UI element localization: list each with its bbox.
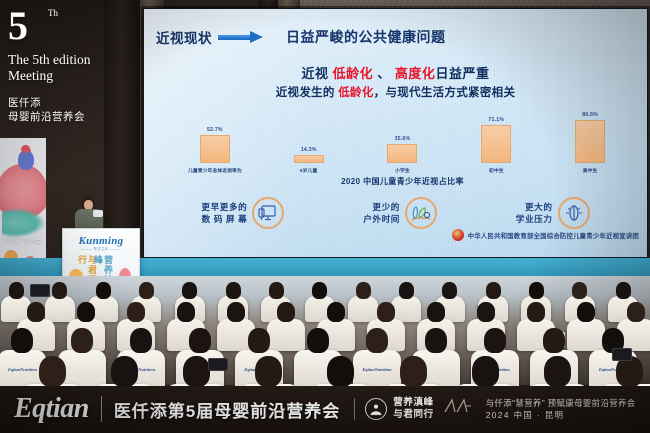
slide-title-row: 近视现状 日益严峻的公共健康问题 — [156, 25, 637, 49]
audience-head — [544, 356, 571, 386]
audience-member — [528, 356, 588, 386]
poster-mascot-icon — [18, 150, 34, 170]
chart-bar — [575, 120, 605, 163]
audience-head — [377, 302, 395, 322]
microphone-icon — [93, 210, 103, 217]
audience-head — [130, 328, 152, 353]
banner-right-line1: 与仟添"慧营养" 预赋康母婴前沿营养会 — [486, 397, 636, 409]
audience-head — [356, 282, 371, 299]
chart-bar-group: 52.7%儿童青少年总体近视率为 — [168, 105, 262, 163]
chart-bar — [481, 125, 511, 163]
audience-head — [27, 302, 45, 322]
audience-head — [327, 356, 354, 386]
factor-1-line1: 更早更多的 — [201, 201, 247, 213]
brand-logo-number: 5 — [8, 3, 28, 48]
audience-head — [484, 328, 506, 353]
audience-head — [477, 302, 495, 322]
podium-city-label: Kunming — [63, 235, 139, 247]
banner-slogan-line1: 营养滇峰 — [393, 397, 433, 409]
chart-bar-group: 14.3%6岁儿童 — [262, 105, 356, 163]
sub2-text-b: ，与现代生活方式紧密相关 — [374, 87, 516, 99]
audience-member: EqtianNutrition — [22, 356, 82, 386]
chart-bar-category: 高中生 — [545, 167, 635, 174]
brand-logo-mark: 5 Th — [8, 6, 138, 48]
brand-logo-superscript: Th — [48, 8, 58, 18]
audience-member — [239, 356, 299, 386]
right-arrow-icon — [218, 32, 264, 42]
sub1-text-mid: 、 — [373, 66, 395, 81]
brand-english-line1: The 5th edition — [8, 52, 138, 68]
myopia-bar-chart: 52.7%儿童青少年总体近视率为14.3%6岁儿童35.6%小学生71.1%初中… — [168, 105, 637, 177]
chart-bar-group: 80.5%高中生 — [543, 105, 637, 163]
banner-slogan: 营养滇峰 与君同行 — [393, 397, 433, 421]
podium-city-sub: ——— 东方之约 ——— — [63, 247, 139, 252]
banner-right-line2: 2024 中国 · 昆明 — [486, 409, 636, 421]
sub2-text-a: 近视发生的 — [276, 87, 339, 99]
audience-head — [627, 302, 645, 322]
chart-bar-value: 71.1% — [466, 117, 526, 123]
sub1-highlight-b: 高度化 — [395, 66, 436, 81]
audience-head — [189, 328, 211, 353]
audience-head — [312, 282, 327, 299]
audience-head — [182, 282, 197, 299]
audience-head — [111, 356, 138, 386]
sub1-text-b: 日益严重 — [435, 66, 489, 81]
audience-head — [52, 282, 67, 299]
audience-head — [227, 302, 245, 322]
factor-2-line2: 户外时间 — [363, 213, 400, 225]
chart-bar — [200, 135, 230, 163]
audience-member: EqtianNutrition — [311, 356, 371, 386]
audience-head — [139, 282, 154, 299]
academic-pressure-icon — [558, 197, 590, 229]
audience-head — [307, 328, 329, 353]
audience-member: EqtianNutrition — [455, 356, 515, 386]
banner-event-title: 医仟添第5届母婴前沿营养会 — [114, 397, 340, 422]
slide-subtitle-2: 近视发生的 低龄化，与现代生活方式紧密相关 — [144, 84, 647, 100]
banner-divider-1 — [101, 396, 102, 422]
brand-english-line2: Meeting — [8, 68, 138, 84]
audience-head — [11, 328, 33, 353]
brand-chinese-line2: 母婴前沿营养会 — [8, 110, 138, 124]
chart-bar-value: 52.7% — [185, 127, 245, 133]
chart-bar-category: 小学生 — [357, 167, 447, 174]
presentation-screen: 近视现状 日益严峻的公共健康问题 近视 低龄化 、 高度化日益严重 近视发生的 … — [143, 8, 648, 258]
slide-tag-label: 近视现状 — [156, 27, 212, 47]
factor-2-line1: 更少的 — [363, 201, 400, 213]
chart-bar-value: 35.6% — [372, 136, 432, 142]
banner-slogan-line2: 与君同行 — [393, 409, 433, 421]
poster-leaf-graphic — [2, 208, 46, 238]
audience-head — [39, 356, 66, 386]
slide-subtitle-1: 近视 低龄化 、 高度化日益严重 — [144, 63, 647, 82]
sub2-highlight: 低龄化 — [338, 87, 373, 99]
factor-1-line2: 数 码 屏 幕 — [201, 213, 247, 225]
audience-head — [543, 328, 565, 353]
chart-bar — [294, 155, 324, 163]
audience-head — [486, 282, 501, 299]
outdoor-plant-icon — [405, 197, 437, 229]
factor-3-line1: 更大的 — [516, 201, 553, 213]
audience-head — [269, 282, 284, 299]
brand-chinese-text: 医仟添 母婴前沿营养会 — [8, 96, 138, 124]
audience-head — [77, 302, 95, 322]
chart-bar-value: 14.3% — [279, 147, 339, 153]
audience-head — [577, 302, 595, 322]
audience-head — [529, 282, 544, 299]
red-seal-icon — [452, 229, 464, 241]
chart-bar-value: 80.5% — [560, 112, 620, 118]
audience-head — [96, 282, 111, 299]
factor-outdoor-time: 更少的 户外时间 — [363, 197, 437, 229]
audience-member — [383, 356, 443, 386]
sub1-text-a: 近视 — [302, 66, 333, 81]
poster-text: 母婴营 前沿会 — [2, 238, 44, 246]
audience-head — [400, 356, 427, 386]
audience-head — [427, 302, 445, 322]
left-brand-overlay: 5 Th The 5th edition Meeting 医仟添 母婴前沿营养会 — [8, 6, 138, 124]
nutrition-seal-icon — [365, 398, 387, 420]
audience-head — [327, 302, 345, 322]
banner-brand-logo: Eqtian — [14, 393, 89, 425]
factor-2-label: 更少的 户外时间 — [363, 201, 400, 225]
factor-1-label: 更早更多的 数 码 屏 幕 — [201, 201, 247, 225]
audience-head — [226, 282, 241, 299]
audience-head — [183, 356, 210, 386]
audience-head — [127, 302, 145, 322]
factor-3-line2: 学业压力 — [516, 213, 553, 225]
audience-head — [442, 282, 457, 299]
audience-head — [472, 356, 499, 386]
audience-head — [277, 302, 295, 322]
chart-bar-category: 6岁儿童 — [264, 167, 354, 174]
audience-head — [399, 282, 414, 299]
audience-area: EqtianNutritionEqtianNutritionEqtianNutr… — [0, 276, 650, 386]
audience-head — [366, 328, 388, 353]
slide-attribution: 中华人民共和国教育部全国综合防控儿童青少年近视宣讲团 — [452, 229, 639, 241]
audience-head — [425, 328, 447, 353]
slide-headline: 日益严峻的公共健康问题 — [286, 27, 446, 47]
chart-bar-group: 35.6%小学生 — [356, 105, 450, 163]
digital-screen-icon — [252, 197, 284, 229]
chart-bar-group: 71.1%初中生 — [449, 105, 543, 163]
banner-right-text: 与仟添"慧营养" 预赋康母婴前沿营养会 2024 中国 · 昆明 — [486, 397, 636, 421]
audience-head — [71, 328, 93, 353]
chart-x-axis-title: 2020 中国儿童青少年近视占比率 — [168, 176, 637, 187]
audience-head — [248, 328, 270, 353]
smartphone-held — [612, 348, 632, 361]
banner-divider-2 — [354, 398, 355, 420]
chart-bar-category: 初中生 — [451, 167, 541, 174]
audience-head — [572, 282, 587, 299]
bottom-branding-banner: Eqtian 医仟添第5届母婴前沿营养会 营养滇峰 与君同行 与仟添"慧营养" … — [0, 385, 650, 433]
slide-attribution-text: 中华人民共和国教育部全国综合防控儿童青少年近视宣讲团 — [468, 231, 639, 240]
factor-3-label: 更大的 学业压力 — [516, 201, 553, 225]
chart-bars-container: 52.7%儿童青少年总体近视率为14.3%6岁儿童35.6%小学生71.1%初中… — [168, 105, 637, 163]
smartphone-held — [208, 358, 228, 371]
audience-member — [94, 356, 154, 386]
audience-head — [527, 302, 545, 322]
factor-digital-screen: 更早更多的 数 码 屏 幕 — [201, 197, 284, 229]
smartphone-held — [30, 284, 50, 297]
banner-decor-mark — [442, 396, 472, 423]
chart-bar-category: 儿童青少年总体近视率为 — [170, 167, 260, 174]
audience-head — [177, 302, 195, 322]
brand-chinese-line1: 医仟添 — [8, 96, 138, 110]
audience-head — [616, 282, 631, 299]
event-poster: 母婴营 前沿会 — [0, 138, 46, 278]
brand-english-text: The 5th edition Meeting — [8, 52, 138, 84]
screenshot-root: 母婴营 前沿会 近视现状 日益严峻的公共健康问题 近视 低龄化 、 高度化日益严… — [0, 0, 650, 433]
sub1-highlight-a: 低龄化 — [333, 66, 374, 81]
factor-academic-pressure: 更大的 学业压力 — [516, 197, 590, 229]
audience-head — [9, 282, 24, 299]
audience-head — [255, 356, 282, 386]
chart-bar — [387, 144, 417, 163]
